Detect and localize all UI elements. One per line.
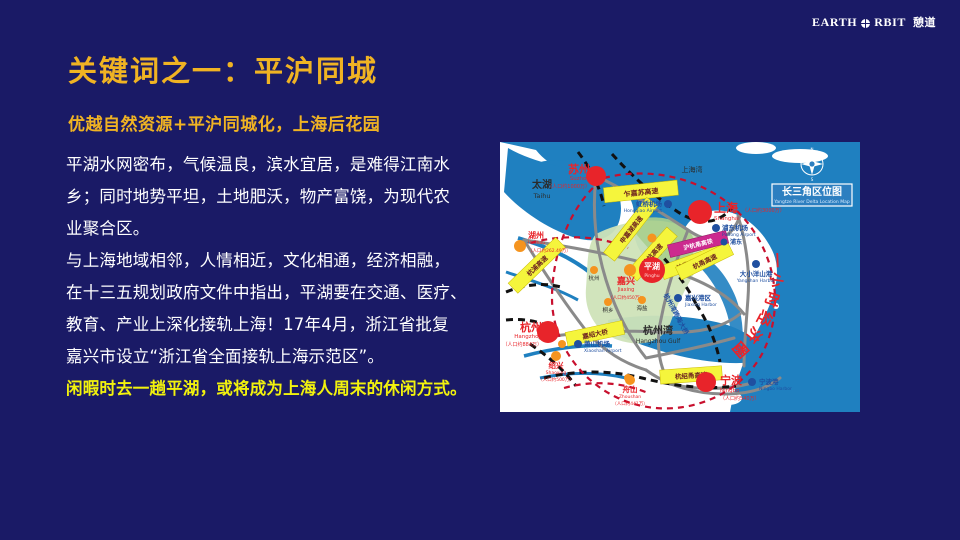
- body-line: 教育、产业上深化接轨上海！17年4月，浙江省批复: [66, 310, 486, 340]
- region-location-map: 乍嘉苏高速 申嘉湖高速 沪杭高速 杭浦高速: [500, 142, 860, 412]
- svg-text:嘉兴: 嘉兴: [616, 275, 635, 287]
- svg-text:Huzhou: Huzhou: [528, 240, 545, 246]
- body-line: 乡；同时地势平坦，土地肥沃，物产富饶，为现代农: [66, 182, 486, 212]
- svg-text:Pinghu: Pinghu: [644, 273, 659, 279]
- brand-name-left: EARTH: [812, 16, 857, 28]
- svg-text:上海湾: 上海湾: [682, 165, 703, 174]
- slide-root: EARTH RBIT 憩道 关键词之一：平沪同城 优越自然资源+平沪同城化，上海…: [0, 0, 960, 540]
- svg-text:上海: 上海: [714, 200, 738, 215]
- svg-text:Ningbo Harbor: Ningbo Harbor: [759, 386, 792, 392]
- svg-text:Ningbo: Ningbo: [720, 388, 740, 394]
- map-town-minor: [624, 374, 632, 382]
- page-subtitle: 优越自然资源+平沪同城化，上海后花园: [68, 110, 380, 135]
- svg-text:Shaoxing: Shaoxing: [546, 370, 567, 376]
- svg-text:海盐: 海盐: [636, 304, 648, 312]
- svg-text:浦东: 浦东: [730, 238, 742, 246]
- svg-text:宁波: 宁波: [720, 373, 743, 387]
- map-town-minor: [558, 340, 566, 348]
- svg-text:Yangshan Harbor: Yangshan Harbor: [736, 278, 775, 284]
- svg-text:Suzhou: Suzhou: [570, 176, 590, 182]
- svg-text:（人口约1000万）: （人口约1000万）: [547, 183, 590, 190]
- legend-title-en: Yangtze River Delta Location Map: [773, 199, 850, 205]
- svg-text:大小洋山港: 大小洋山港: [740, 269, 773, 278]
- map-legend-box: 长三角区位图 Yangtze River Delta Location Map: [772, 184, 852, 206]
- svg-text:杭州湾: 杭州湾: [643, 324, 673, 337]
- svg-text:湖州: 湖州: [528, 230, 544, 240]
- svg-text:Shanghai: Shanghai: [714, 216, 740, 222]
- svg-text:杭州: 杭州: [588, 274, 599, 282]
- svg-text:（人口约540万）: （人口约540万）: [720, 395, 760, 402]
- district-pudong: 浦东: [721, 238, 743, 246]
- svg-text:宁波港: 宁波港: [759, 377, 779, 386]
- body-text-block: 平湖水网密布，气候温良，滨水宜居，是难得江南水 乡；同时地势平坦，土地肥沃，物产…: [66, 150, 486, 406]
- svg-text:萧山机场: 萧山机场: [584, 339, 611, 348]
- svg-text:平湖: 平湖: [644, 261, 660, 271]
- svg-text:N: N: [811, 147, 814, 152]
- svg-text:Hangzhou: Hangzhou: [514, 334, 542, 340]
- page-title: 关键词之一：平沪同城: [68, 48, 378, 90]
- brand-name-cjk: 憩道: [913, 17, 936, 28]
- svg-text:Jiaxing: Jiaxing: [617, 287, 635, 293]
- body-line: 业聚合区。: [66, 214, 486, 244]
- svg-text:苏州: 苏州: [568, 162, 590, 176]
- svg-text:Taihu: Taihu: [533, 192, 551, 200]
- body-line: 与上海地域相邻，人情相近，文化相通，经济相融，: [66, 246, 486, 276]
- svg-text:嘉兴港区: 嘉兴港区: [684, 293, 712, 302]
- map-town-minor: [648, 234, 657, 243]
- map-city-pinghu: 平湖 Pinghu: [639, 257, 665, 283]
- svg-text:Zhoushan: Zhoushan: [619, 394, 641, 400]
- svg-text:舟山: 舟山: [623, 384, 638, 394]
- svg-text:浦东机场: 浦东机场: [722, 223, 749, 232]
- svg-text:Hangzhou Gulf: Hangzhou Gulf: [636, 338, 681, 345]
- svg-text:杭州: 杭州: [520, 320, 542, 334]
- brand-name-right: RBIT: [874, 16, 906, 28]
- body-line: 在十三五规划政府文件中指出，平湖要在交通、医疗、: [66, 278, 486, 308]
- svg-text:Pudong Airport: Pudong Airport: [722, 232, 756, 238]
- svg-text:（人口约3000万）: （人口约3000万）: [742, 207, 785, 214]
- svg-text:桐乡: 桐乡: [602, 306, 613, 314]
- body-line: 平湖水网密布，气候温良，滨水宜居，是难得江南水: [66, 150, 486, 180]
- body-line-accent: 闲暇时去一趟平湖，或将成为上海人周末的休闲方式。: [66, 374, 486, 404]
- legend-title-cn: 长三角区位图: [782, 185, 842, 198]
- svg-text:Xiaoshan Airport: Xiaoshan Airport: [584, 348, 622, 354]
- svg-text:Hongqiao Airport: Hongqiao Airport: [624, 208, 663, 214]
- globe-icon: [861, 19, 870, 28]
- body-line: 嘉兴市设立“浙江省全面接轨上海示范区”。: [66, 342, 486, 372]
- svg-text:虹桥机场: 虹桥机场: [636, 199, 663, 208]
- svg-text:（人口约262.49万）: （人口约262.49万）: [528, 247, 571, 254]
- svg-text:（人口约500万）: （人口约500万）: [538, 376, 574, 383]
- svg-text:（人口约884万）: （人口约884万）: [502, 341, 542, 348]
- svg-text:S: S: [811, 177, 814, 182]
- map-canvas: 乍嘉苏高速 申嘉湖高速 沪杭高速 杭浦高速: [500, 142, 860, 412]
- svg-text:Jiaxing Harbor: Jiaxing Harbor: [684, 302, 717, 308]
- svg-text:（人口约441万）: （人口约441万）: [612, 400, 648, 407]
- brand-logo: EARTH RBIT 憩道: [812, 16, 936, 28]
- svg-text:绍兴: 绍兴: [549, 360, 564, 370]
